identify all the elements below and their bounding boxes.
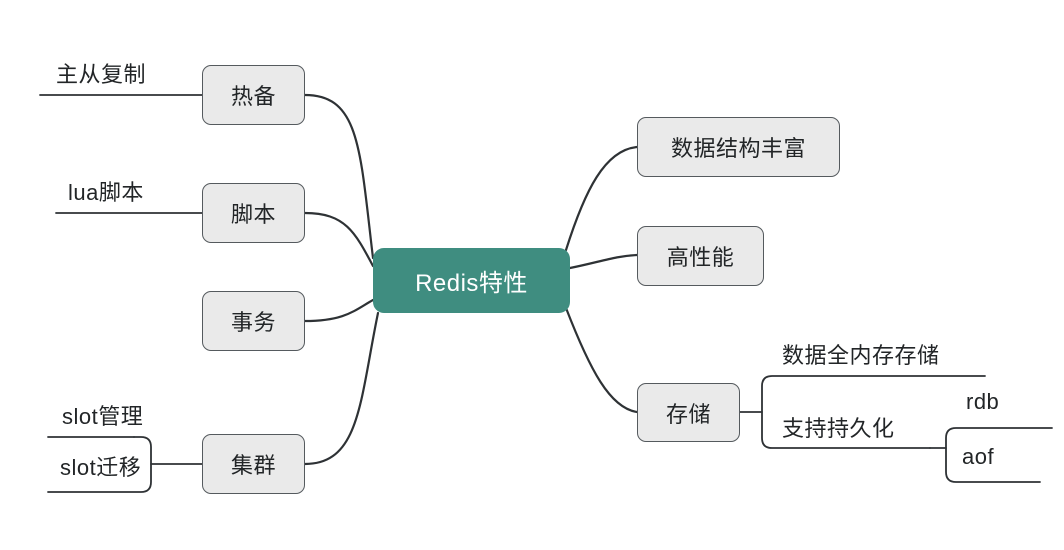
leaf-all-in-memory-storage[interactable]: 数据全内存存储: [782, 338, 940, 370]
root-node[interactable]: Redis特性: [373, 248, 570, 313]
leaf-aof[interactable]: aof: [962, 444, 994, 470]
node-transaction[interactable]: 事务: [202, 291, 305, 351]
leaf-lua-script[interactable]: lua脚本: [68, 175, 144, 207]
leaf-master-slave-replication[interactable]: 主从复制: [56, 57, 146, 89]
node-rich-data-structures[interactable]: 数据结构丰富: [637, 117, 840, 177]
mindmap-canvas: Redis特性 热备 脚本 事务 集群 主从复制 lua脚本 slot管理 sl…: [0, 0, 1064, 550]
node-storage[interactable]: 存储: [637, 383, 740, 442]
connector-root-to-hotstandby: [305, 95, 373, 258]
leaf-slot-manage[interactable]: slot管理: [62, 399, 143, 431]
leaf-slot-migrate[interactable]: slot迁移: [60, 450, 141, 482]
connector-root-to-cluster: [305, 313, 378, 464]
node-script[interactable]: 脚本: [202, 183, 305, 243]
connector-root-to-storage: [566, 308, 637, 412]
node-cluster[interactable]: 集群: [202, 434, 305, 494]
connector-root-to-script: [305, 213, 373, 266]
connector-root-to-datastructure: [566, 147, 637, 250]
node-high-performance[interactable]: 高性能: [637, 226, 764, 286]
leaf-rdb[interactable]: rdb: [966, 389, 999, 415]
leaf-persistence-support[interactable]: 支持持久化: [782, 411, 895, 443]
node-hot-standby[interactable]: 热备: [202, 65, 305, 125]
connector-root-to-transaction: [305, 300, 373, 321]
connector-root-to-performance: [570, 255, 637, 268]
